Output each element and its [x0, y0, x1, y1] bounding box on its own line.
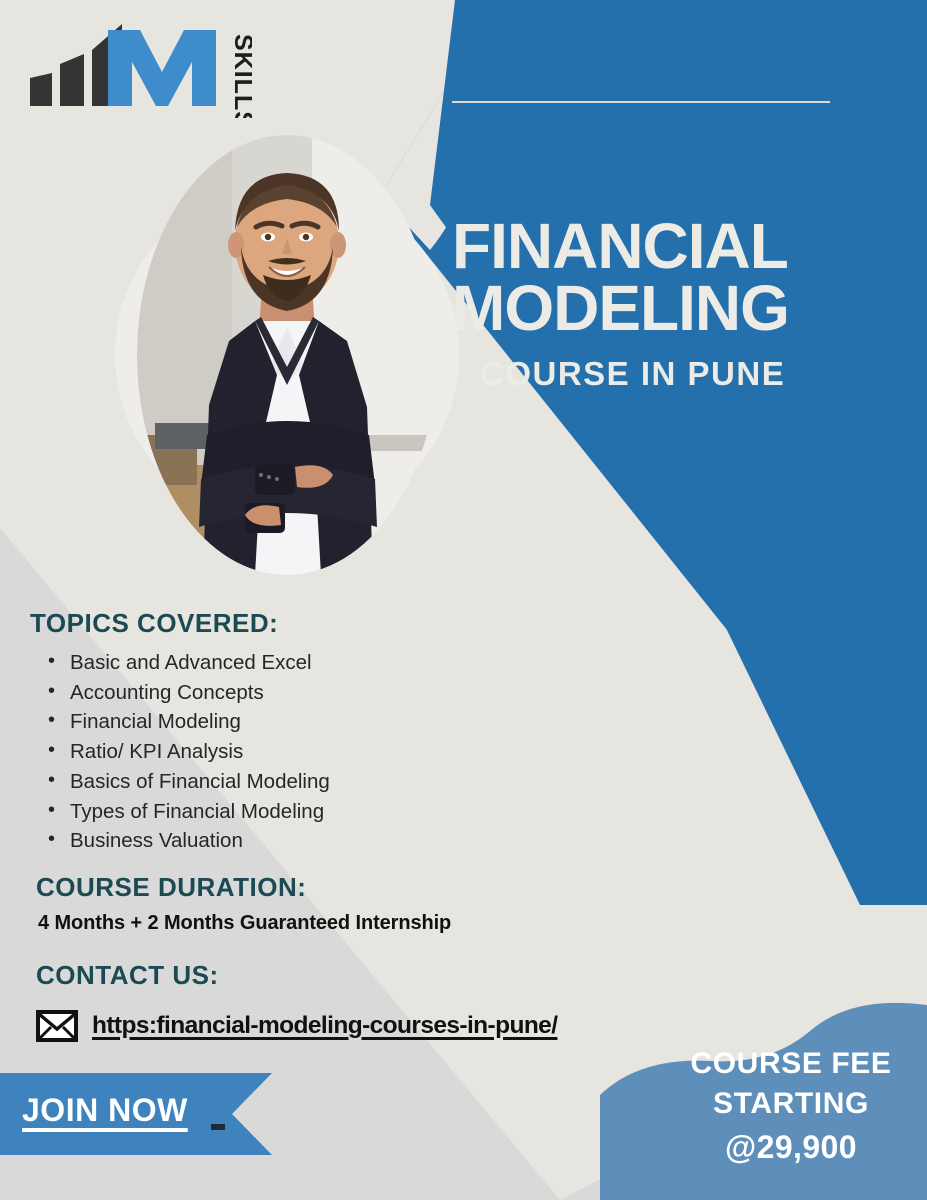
page-title-line2: MODELING [452, 277, 902, 339]
contact-heading: CONTACT US: [36, 960, 219, 991]
course-fee-amount: @29,900 [655, 1124, 927, 1170]
course-fee-text: COURSE FEE STARTING @29,900 [655, 1044, 927, 1170]
header-rule [452, 101, 830, 103]
page-subtitle: COURSE IN PUNE [480, 355, 902, 393]
course-fee-line2: STARTING [655, 1084, 927, 1124]
poster-canvas: SKILLS [0, 0, 927, 1200]
course-fee-line1: COURSE FEE [655, 1044, 927, 1084]
headline-block: FINANCIAL MODELING COURSE IN PUNE [452, 215, 902, 393]
list-item: Basics of Financial Modeling [42, 767, 330, 797]
list-item: Business Valuation [42, 826, 330, 856]
contact-row[interactable]: https:financial-modeling-courses-in-pune… [36, 1010, 557, 1042]
logo-letter-m [108, 30, 216, 106]
join-now-button[interactable]: JOIN NOW [22, 1092, 188, 1129]
bar-chart-growth-icon [30, 73, 52, 106]
course-duration-heading: COURSE DURATION: [36, 872, 306, 903]
list-item: Ratio/ KPI Analysis [42, 737, 330, 767]
list-item: Types of Financial Modeling [42, 797, 330, 827]
envelope-icon [36, 1010, 78, 1042]
course-duration-value: 4 Months + 2 Months Guaranteed Internshi… [38, 912, 451, 935]
brand-logo[interactable]: SKILLS [22, 18, 252, 118]
topics-list: Basic and Advanced Excel Accounting Conc… [42, 648, 330, 856]
page-title-line1: FINANCIAL [452, 215, 902, 277]
contact-url-link[interactable]: https:financial-modeling-courses-in-pune… [92, 1012, 557, 1040]
list-item: Financial Modeling [42, 707, 330, 737]
topics-heading: TOPICS COVERED: [30, 608, 278, 639]
list-item: Basic and Advanced Excel [42, 648, 330, 678]
list-item: Accounting Concepts [42, 678, 330, 708]
logo-word-skills: SKILLS [229, 34, 252, 118]
join-now-caret [211, 1124, 225, 1130]
instructor-portrait [137, 135, 437, 575]
